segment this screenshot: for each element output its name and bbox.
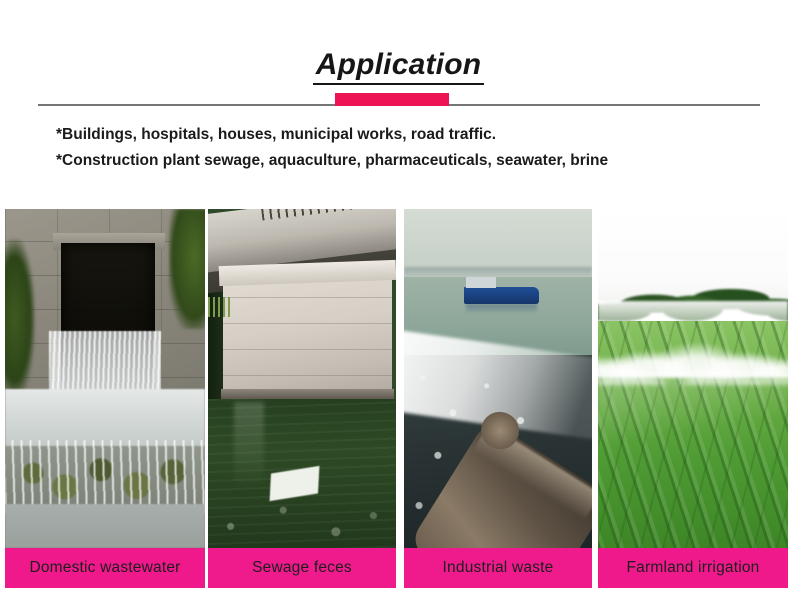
photo-farmland-irrigation: [598, 209, 788, 548]
panel-caption-farmland-irrigation: Farmland irrigation: [598, 548, 788, 588]
bullet-item-2: *Construction plant sewage, aquaculture,…: [56, 148, 756, 174]
title-accent-bar: [335, 93, 449, 106]
application-panel-farmland-irrigation[interactable]: Farmland irrigation: [598, 209, 788, 588]
photo-domestic-wastewater: [5, 209, 205, 548]
bullet-list: *Buildings, hospitals, houses, municipal…: [56, 122, 756, 174]
panel-caption-industrial-waste: Industrial waste: [404, 548, 592, 588]
panel-caption-sewage-feces: Sewage feces: [208, 548, 396, 588]
page-title-text: Application: [313, 49, 485, 85]
photo-industrial-waste: [404, 209, 592, 548]
bullet-item-1: *Buildings, hospitals, houses, municipal…: [56, 122, 756, 148]
application-panel-sewage-feces[interactable]: Sewage feces: [208, 209, 396, 588]
panel-caption-domestic-wastewater: Domestic wastewater: [5, 548, 205, 588]
application-panel-industrial-waste[interactable]: Industrial waste: [404, 209, 592, 588]
application-image-strip: Domestic wastewater Sewage feces: [0, 209, 797, 588]
photo-sewage-feces: [208, 209, 396, 548]
application-panel-domestic-wastewater[interactable]: Domestic wastewater: [5, 209, 205, 588]
page-title: Application: [0, 48, 797, 85]
